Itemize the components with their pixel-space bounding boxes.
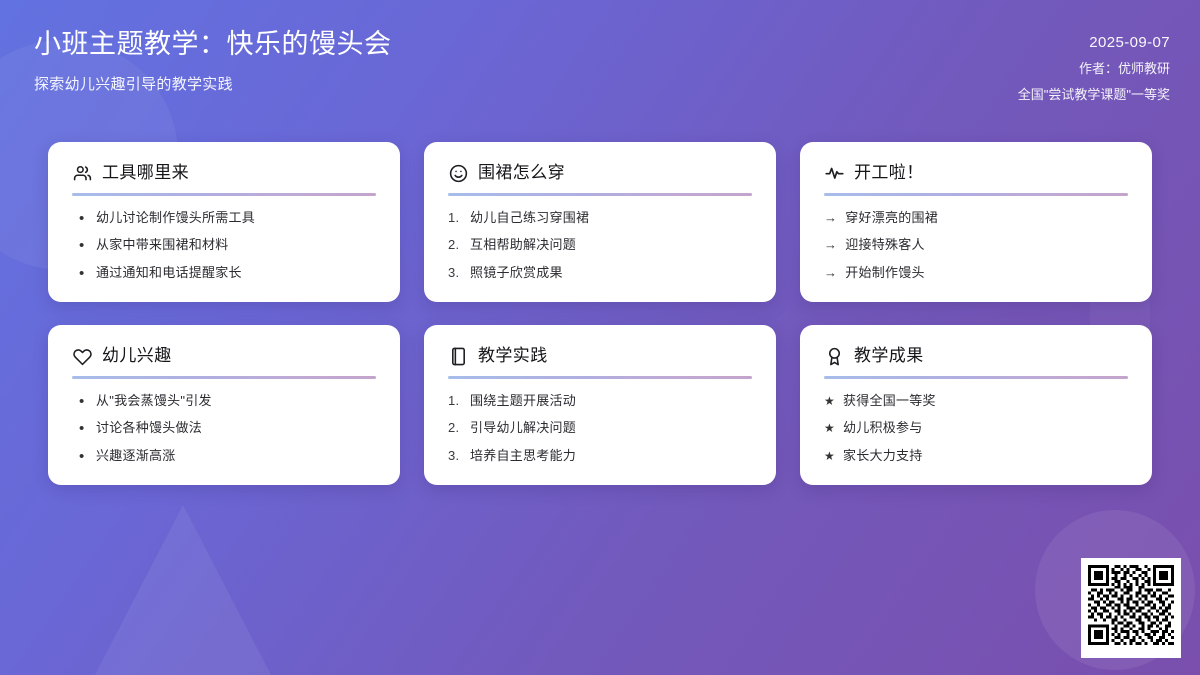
heart-icon xyxy=(72,346,93,367)
bullet-marker: • xyxy=(79,394,88,409)
bullet-marker: • xyxy=(79,449,88,464)
list-item: 3. 照镜子欣赏成果 xyxy=(448,264,752,282)
list-item-text: 讨论各种馒头做法 xyxy=(96,419,376,437)
slide-canvas: 小班主题教学：快乐的馒头会 探索幼儿兴趣引导的教学实践 2025-09-07 作… xyxy=(0,0,1200,675)
card-apron-how-to-wear[interactable]: 围裙怎么穿 1. 幼儿自己练习穿围裙 2. 互相帮助解决问题 3. 照镜子欣赏成… xyxy=(424,142,776,302)
decorative-triangle xyxy=(95,505,271,675)
list-item-text: 从"我会蒸馒头"引发 xyxy=(96,392,376,410)
list-item: ★ 幼儿积极参与 xyxy=(824,419,1128,437)
card-header: 围裙怎么穿 xyxy=(448,163,752,184)
star-marker: ★ xyxy=(824,420,835,437)
page-subtitle: 探索幼儿兴趣引导的教学实践 xyxy=(34,73,392,94)
card-header: 幼儿兴趣 xyxy=(72,346,376,367)
card-title: 围裙怎么穿 xyxy=(478,163,565,183)
card-list: 1. 幼儿自己练习穿围裙 2. 互相帮助解决问题 3. 照镜子欣赏成果 xyxy=(448,209,752,282)
card-header: 工具哪里来 xyxy=(72,163,376,184)
meta-award: 全国"尝试教学课题"一等奖 xyxy=(1018,84,1170,103)
star-marker: ★ xyxy=(824,393,835,410)
card-tools-source[interactable]: 工具哪里来 • 幼儿讨论制作馒头所需工具 • 从家中带来围裙和材料 • 通过通知… xyxy=(48,142,400,302)
card-header: 教学实践 xyxy=(448,346,752,367)
list-item-text: 穿好漂亮的围裙 xyxy=(845,209,1128,227)
arrow-marker: → xyxy=(824,264,837,282)
list-item-text: 围绕主题开展活动 xyxy=(470,392,752,410)
list-item: → 迎接特殊客人 xyxy=(824,236,1128,254)
card-divider xyxy=(448,376,752,379)
card-teaching-practice[interactable]: 教学实践 1. 围绕主题开展活动 2. 引导幼儿解决问题 3. 培养自主思考能力 xyxy=(424,325,776,485)
award-icon xyxy=(824,346,845,367)
list-item-text: 获得全国一等奖 xyxy=(843,392,1128,410)
card-start-working[interactable]: 开工啦！ → 穿好漂亮的围裙 → 迎接特殊客人 → 开始制作馒头 xyxy=(800,142,1152,302)
card-list: 1. 围绕主题开展活动 2. 引导幼儿解决问题 3. 培养自主思考能力 xyxy=(448,392,752,465)
list-item: • 从"我会蒸馒头"引发 xyxy=(72,392,376,410)
list-item-text: 幼儿积极参与 xyxy=(843,419,1128,437)
card-divider xyxy=(448,193,752,196)
list-item: • 通过通知和电话提醒家长 xyxy=(72,264,376,282)
card-header: 教学成果 xyxy=(824,346,1128,367)
smiley-icon xyxy=(448,163,469,184)
card-title: 幼儿兴趣 xyxy=(102,346,172,366)
list-item: ★ 获得全国一等奖 xyxy=(824,392,1128,410)
list-item: ★ 家长大力支持 xyxy=(824,447,1128,465)
list-item: → 开始制作馒头 xyxy=(824,264,1128,282)
book-icon xyxy=(448,346,469,367)
number-marker: 1. xyxy=(448,392,462,410)
card-list: • 幼儿讨论制作馒头所需工具 • 从家中带来围裙和材料 • 通过通知和电话提醒家… xyxy=(72,209,376,282)
qr-code-image xyxy=(1088,565,1174,651)
list-item: 1. 围绕主题开展活动 xyxy=(448,392,752,410)
list-item-text: 通过通知和电话提醒家长 xyxy=(96,264,376,282)
card-teaching-results[interactable]: 教学成果 ★ 获得全国一等奖 ★ 幼儿积极参与 ★ 家长大力支持 xyxy=(800,325,1152,485)
list-item: 2. 引导幼儿解决问题 xyxy=(448,419,752,437)
list-item: • 从家中带来围裙和材料 xyxy=(72,236,376,254)
number-marker: 1. xyxy=(448,209,462,227)
card-title: 开工啦！ xyxy=(854,163,924,183)
list-item: → 穿好漂亮的围裙 xyxy=(824,209,1128,227)
list-item-text: 迎接特殊客人 xyxy=(845,236,1128,254)
meta-date: 2025-09-07 xyxy=(1089,34,1170,51)
number-marker: 3. xyxy=(448,447,462,465)
list-item-text: 兴趣逐渐高涨 xyxy=(96,447,376,465)
number-marker: 3. xyxy=(448,264,462,282)
star-marker: ★ xyxy=(824,448,835,465)
list-item: • 兴趣逐渐高涨 xyxy=(72,447,376,465)
card-list: → 穿好漂亮的围裙 → 迎接特殊客人 → 开始制作馒头 xyxy=(824,209,1128,282)
card-grid: 工具哪里来 • 幼儿讨论制作馒头所需工具 • 从家中带来围裙和材料 • 通过通知… xyxy=(48,142,1152,485)
number-marker: 2. xyxy=(448,236,462,254)
number-marker: 2. xyxy=(448,419,462,437)
card-title: 教学实践 xyxy=(478,346,548,366)
list-item-text: 互相帮助解决问题 xyxy=(470,236,752,254)
header-meta-group: 2025-09-07 作者：优师教研 全国"尝试教学课题"一等奖 xyxy=(1018,26,1170,103)
card-divider xyxy=(824,193,1128,196)
card-title: 工具哪里来 xyxy=(102,163,189,183)
card-divider xyxy=(72,376,376,379)
card-list: • 从"我会蒸馒头"引发 • 讨论各种馒头做法 • 兴趣逐渐高涨 xyxy=(72,392,376,465)
list-item-text: 幼儿自己练习穿围裙 xyxy=(470,209,752,227)
list-item: 3. 培养自主思考能力 xyxy=(448,447,752,465)
list-item-text: 从家中带来围裙和材料 xyxy=(96,236,376,254)
list-item-text: 照镜子欣赏成果 xyxy=(470,264,752,282)
list-item-text: 引导幼儿解决问题 xyxy=(470,419,752,437)
card-header: 开工啦！ xyxy=(824,163,1128,184)
card-divider xyxy=(72,193,376,196)
activity-pulse-icon xyxy=(824,163,845,184)
list-item: 2. 互相帮助解决问题 xyxy=(448,236,752,254)
list-item-text: 培养自主思考能力 xyxy=(470,447,752,465)
bullet-marker: • xyxy=(79,421,88,436)
card-children-interest[interactable]: 幼儿兴趣 • 从"我会蒸馒头"引发 • 讨论各种馒头做法 • 兴趣逐渐高涨 xyxy=(48,325,400,485)
header-left-group: 小班主题教学：快乐的馒头会 探索幼儿兴趣引导的教学实践 xyxy=(34,26,392,94)
list-item: • 讨论各种馒头做法 xyxy=(72,419,376,437)
list-item-text: 开始制作馒头 xyxy=(845,264,1128,282)
list-item: • 幼儿讨论制作馒头所需工具 xyxy=(72,209,376,227)
card-title: 教学成果 xyxy=(854,346,924,366)
meta-author: 作者：优师教研 xyxy=(1079,58,1170,77)
list-item-text: 幼儿讨论制作馒头所需工具 xyxy=(96,209,376,227)
list-item: 1. 幼儿自己练习穿围裙 xyxy=(448,209,752,227)
list-item-text: 家长大力支持 xyxy=(843,447,1128,465)
arrow-marker: → xyxy=(824,236,837,254)
bullet-marker: • xyxy=(79,211,88,226)
bullet-marker: • xyxy=(79,238,88,253)
slide-header: 小班主题教学：快乐的馒头会 探索幼儿兴趣引导的教学实践 2025-09-07 作… xyxy=(0,0,1200,120)
users-icon xyxy=(72,163,93,184)
bullet-marker: • xyxy=(79,266,88,281)
qr-code[interactable] xyxy=(1081,558,1181,658)
page-title: 小班主题教学：快乐的馒头会 xyxy=(34,26,392,62)
card-divider xyxy=(824,376,1128,379)
card-list: ★ 获得全国一等奖 ★ 幼儿积极参与 ★ 家长大力支持 xyxy=(824,392,1128,465)
arrow-marker: → xyxy=(824,209,837,227)
